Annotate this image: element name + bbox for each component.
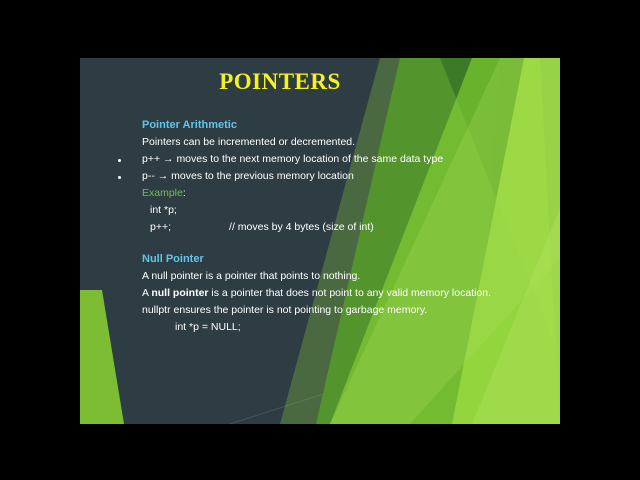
- example-label-colon: :: [183, 187, 186, 199]
- presentation-slide: POINTERS Pointer Arithmetic Pointers can…: [80, 58, 560, 424]
- text-pointers-can-be-incremented: Pointers can be incremented or decrement…: [80, 137, 560, 154]
- screen: POINTERS Pointer Arithmetic Pointers can…: [0, 0, 640, 480]
- text-emphasis-null-pointer: null pointer: [151, 287, 208, 299]
- example-label-row: Example:: [80, 188, 560, 205]
- text-null-pointer-definition: A null pointer is a pointer that points …: [80, 271, 560, 288]
- bullet-text-increment: p++ → moves to the next memory location …: [80, 153, 443, 165]
- list-item: p++ → moves to the next memory location …: [80, 154, 560, 171]
- page-title: POINTERS: [80, 69, 480, 95]
- text-suffix: is a pointer that does not point to any …: [209, 287, 492, 299]
- text-prefix: A: [142, 287, 151, 299]
- bullet-dot-icon: [118, 159, 121, 162]
- code-line-int-p-null: int *p = NULL;: [80, 322, 560, 339]
- slide-content: POINTERS Pointer Arithmetic Pointers can…: [80, 58, 560, 424]
- text-null-pointer-valid-memory: A null pointer is a pointer that does no…: [80, 288, 560, 305]
- slide-body: Pointer Arithmetic Pointers can be incre…: [80, 120, 560, 339]
- bullet-text-decrement: p-- → moves to the previous memory locat…: [80, 170, 354, 182]
- code-comment-moves-4-bytes: // moves by 4 bytes (size of int): [171, 221, 374, 233]
- code-line-int-p: int *p;: [80, 205, 560, 222]
- section-heading-null-pointer: Null Pointer: [80, 254, 560, 271]
- text-nullptr-garbage-memory: nullptr ensures the pointer is not point…: [80, 305, 560, 322]
- code-line-p-increment: p++;: [150, 221, 171, 233]
- list-item: p-- → moves to the previous memory locat…: [80, 171, 560, 188]
- example-label: Example: [142, 187, 183, 199]
- code-line-p-increment-row: p++;// moves by 4 bytes (size of int): [80, 222, 560, 239]
- bullet-dot-icon: [118, 176, 121, 179]
- section-spacer: [80, 239, 560, 254]
- section-heading-pointer-arithmetic: Pointer Arithmetic: [80, 120, 560, 137]
